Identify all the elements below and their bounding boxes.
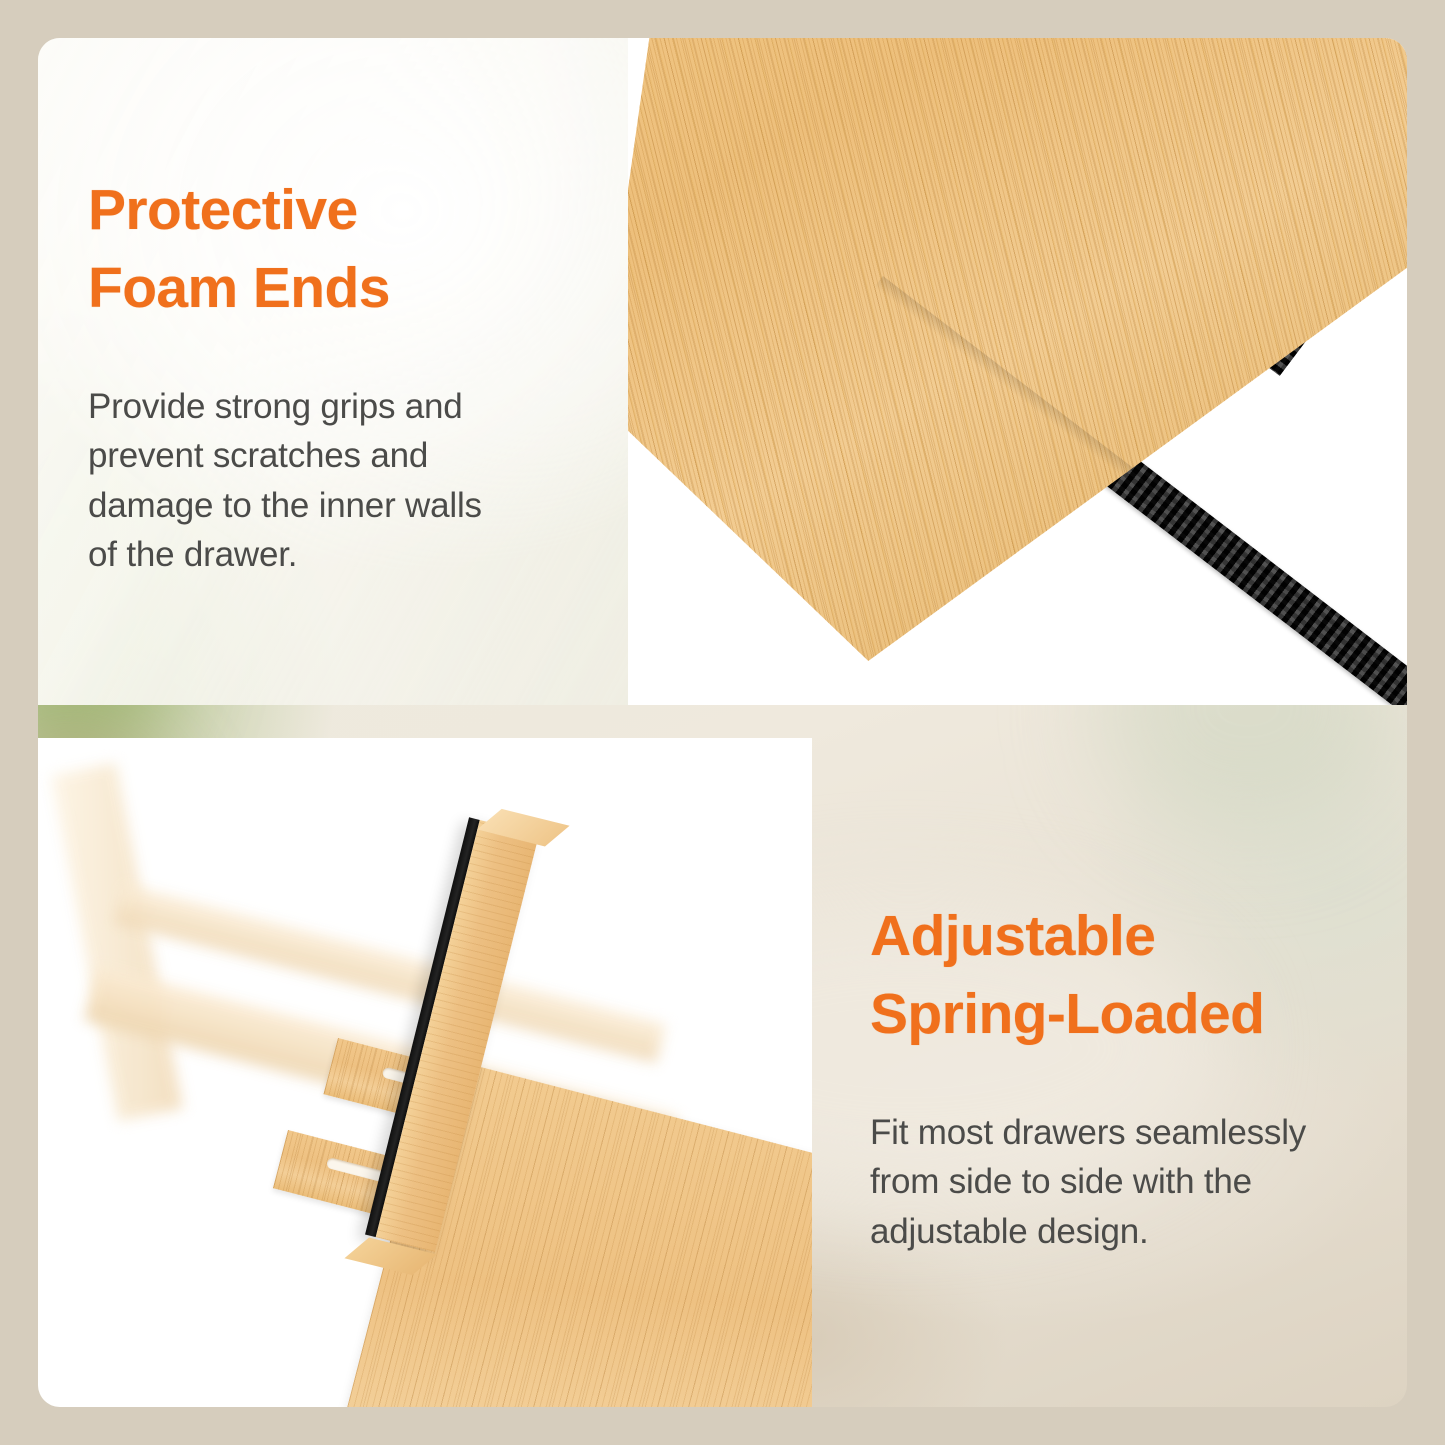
drawer-divider-illustration — [38, 738, 812, 1407]
feature-body-adjustable-spring-loaded: Fit most drawers seamlessly from side to… — [870, 1108, 1390, 1256]
divider-arm-blurred-far — [51, 763, 183, 1121]
bamboo-board-illustration — [628, 38, 1407, 705]
infographic-canvas: Protective Foam Ends Provide strong grip… — [0, 0, 1445, 1445]
feature-panel-adjustable-spring-loaded — [812, 705, 1407, 1407]
product-photo-foam-end-board — [628, 38, 1407, 705]
feature-panel-protective-foam-ends — [38, 38, 628, 705]
feature-heading-protective-foam-ends: Protective Foam Ends — [88, 172, 608, 327]
product-photo-adjustable-divider — [38, 738, 812, 1407]
bamboo-board-face — [628, 38, 1407, 668]
feature-body-protective-foam-ends: Provide strong grips and prevent scratch… — [88, 382, 588, 579]
feature-heading-adjustable-spring-loaded: Adjustable Spring-Loaded — [870, 898, 1400, 1053]
